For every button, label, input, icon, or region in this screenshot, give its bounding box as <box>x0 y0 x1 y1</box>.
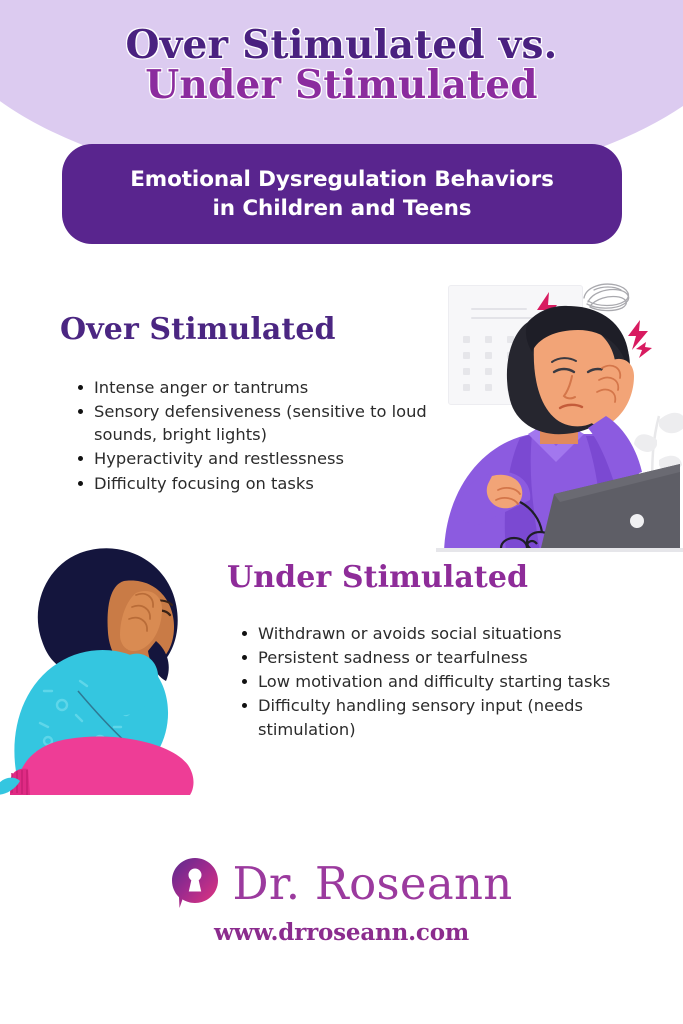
logo-row: Dr. Roseann <box>0 856 683 910</box>
page-title: Over Stimulated vs. Under Stimulated <box>0 26 683 106</box>
brand-url: www.drroseann.com <box>0 919 683 946</box>
infographic-page: Over Stimulated vs. Under Stimulated Emo… <box>0 0 683 1024</box>
under-stimulated-illustration <box>0 545 228 795</box>
list-item: Low motivation and difficulty starting t… <box>240 670 660 693</box>
list-item: Intense anger or tantrums <box>76 376 444 399</box>
list-item: Sensory defensiveness (sensitive to loud… <box>76 400 444 446</box>
brand-name: Dr. Roseann <box>232 861 512 906</box>
footer-brand: Dr. Roseann www.drroseann.com <box>0 856 683 946</box>
person-figure <box>436 276 683 552</box>
subtitle-line-2: in Children and Teens <box>212 196 471 221</box>
list-item: Hyperactivity and restlessness <box>76 447 444 470</box>
list-item: Difficulty handling sensory input (needs… <box>240 694 660 740</box>
list-item: Difficulty focusing on tasks <box>76 472 444 495</box>
section-heading-under-stimulated: Under Stimulated <box>227 560 528 595</box>
subtitle-banner-text: Emotional Dysregulation Behaviors in Chi… <box>130 165 554 223</box>
subtitle-line-1: Emotional Dysregulation Behaviors <box>130 167 554 192</box>
speech-bubble-keyhole-icon <box>170 856 220 910</box>
under-stimulated-list: Withdrawn or avoids social situations Pe… <box>240 622 660 742</box>
subtitle-banner: Emotional Dysregulation Behaviors in Chi… <box>62 144 622 244</box>
sad-person-figure <box>0 545 228 795</box>
title-line-1: Over Stimulated vs. <box>0 26 683 66</box>
list-item: Withdrawn or avoids social situations <box>240 622 660 645</box>
list-item: Persistent sadness or tearfulness <box>240 646 660 669</box>
section-heading-over-stimulated: Over Stimulated <box>60 312 336 347</box>
over-stimulated-list: Intense anger or tantrums Sensory defens… <box>76 376 444 496</box>
title-line-2: Under Stimulated <box>0 66 683 106</box>
over-stimulated-illustration <box>436 276 683 552</box>
